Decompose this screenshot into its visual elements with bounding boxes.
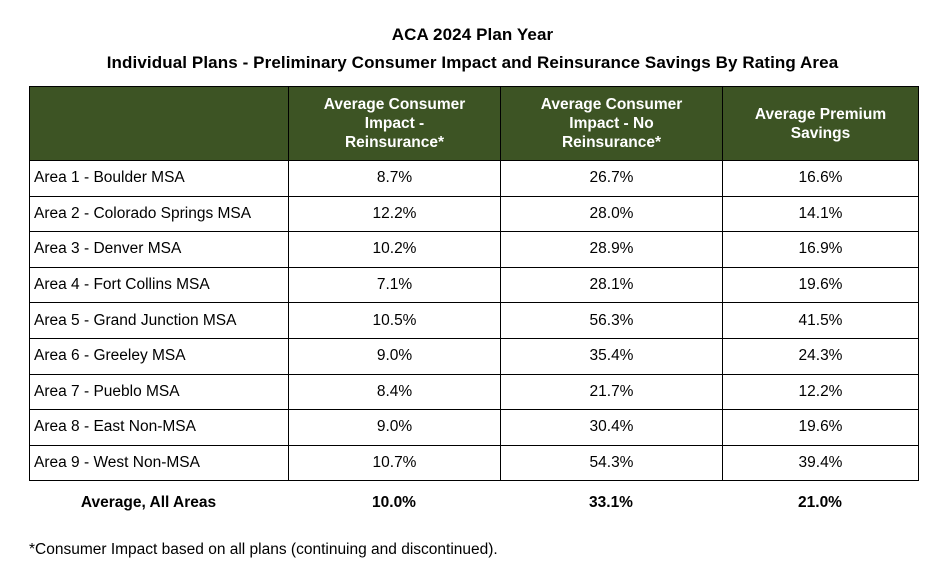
header-line: Reinsurance* [289,133,500,152]
table-row: Area 4 - Fort Collins MSA 7.1% 28.1% 19.… [30,267,919,303]
cell-area-name: Area 6 - Greeley MSA [30,338,289,374]
title-block: ACA 2024 Plan Year Individual Plans - Pr… [0,0,945,74]
cell-impact-no-reinsurance: 30.4% [501,410,723,446]
cell-impact-reinsurance: 8.4% [289,374,501,410]
header-line: Savings [723,124,918,143]
header-row: Average Consumer Impact - Reinsurance* A… [30,87,919,161]
cell-impact-no-reinsurance: 28.9% [501,232,723,268]
summary-label: Average, All Areas [29,481,288,525]
table-body: Area 1 - Boulder MSA 8.7% 26.7% 16.6% Ar… [30,161,919,481]
table-row: Area 7 - Pueblo MSA 8.4% 21.7% 12.2% [30,374,919,410]
cell-impact-reinsurance: 9.0% [289,410,501,446]
cell-premium-savings: 12.2% [723,374,919,410]
table-row: Area 6 - Greeley MSA 9.0% 35.4% 24.3% [30,338,919,374]
cell-premium-savings: 39.4% [723,445,919,481]
cell-premium-savings: 19.6% [723,410,919,446]
cell-area-name: Area 3 - Denver MSA [30,232,289,268]
table-header: Average Consumer Impact - Reinsurance* A… [30,87,919,161]
cell-impact-reinsurance: 10.2% [289,232,501,268]
header-line: Impact - [289,114,500,133]
cell-premium-savings: 14.1% [723,196,919,232]
table-row: Area 9 - West Non-MSA 10.7% 54.3% 39.4% [30,445,919,481]
column-header-area [30,87,289,161]
cell-impact-no-reinsurance: 35.4% [501,338,723,374]
cell-impact-reinsurance: 9.0% [289,338,501,374]
header-line: Average Consumer [501,95,722,114]
cell-impact-no-reinsurance: 54.3% [501,445,723,481]
summary-impact-no-reinsurance: 33.1% [500,481,722,525]
cell-impact-reinsurance: 10.7% [289,445,501,481]
footnote: *Consumer Impact based on all plans (con… [29,540,498,560]
cell-impact-no-reinsurance: 28.0% [501,196,723,232]
cell-premium-savings: 16.6% [723,161,919,197]
cell-area-name: Area 1 - Boulder MSA [30,161,289,197]
table-row: Area 8 - East Non-MSA 9.0% 30.4% 19.6% [30,410,919,446]
page-subtitle: Individual Plans - Preliminary Consumer … [0,52,945,74]
summary-row: Average, All Areas 10.0% 33.1% 21.0% [29,481,918,525]
cell-impact-reinsurance: 8.7% [289,161,501,197]
cell-area-name: Area 7 - Pueblo MSA [30,374,289,410]
header-line: Average Consumer [289,95,500,114]
cell-impact-reinsurance: 12.2% [289,196,501,232]
table-row: Area 2 - Colorado Springs MSA 12.2% 28.0… [30,196,919,232]
cell-impact-no-reinsurance: 26.7% [501,161,723,197]
column-header-premium-savings: Average Premium Savings [723,87,919,161]
cell-impact-no-reinsurance: 28.1% [501,267,723,303]
column-header-impact-reinsurance: Average Consumer Impact - Reinsurance* [289,87,501,161]
cell-area-name: Area 9 - West Non-MSA [30,445,289,481]
rating-area-table: Average Consumer Impact - Reinsurance* A… [29,86,919,481]
cell-area-name: Area 8 - East Non-MSA [30,410,289,446]
summary-impact-reinsurance: 10.0% [288,481,500,525]
cell-area-name: Area 2 - Colorado Springs MSA [30,196,289,232]
cell-area-name: Area 5 - Grand Junction MSA [30,303,289,339]
table-row: Area 3 - Denver MSA 10.2% 28.9% 16.9% [30,232,919,268]
cell-impact-reinsurance: 7.1% [289,267,501,303]
summary-premium-savings: 21.0% [722,481,918,525]
cell-premium-savings: 19.6% [723,267,919,303]
cell-impact-no-reinsurance: 56.3% [501,303,723,339]
cell-premium-savings: 41.5% [723,303,919,339]
cell-impact-no-reinsurance: 21.7% [501,374,723,410]
page-title: ACA 2024 Plan Year [0,24,945,46]
table-row: Area 5 - Grand Junction MSA 10.5% 56.3% … [30,303,919,339]
summary-row-table: Average, All Areas 10.0% 33.1% 21.0% [29,481,918,525]
cell-area-name: Area 4 - Fort Collins MSA [30,267,289,303]
table-row: Area 1 - Boulder MSA 8.7% 26.7% 16.6% [30,161,919,197]
data-table-container: Average Consumer Impact - Reinsurance* A… [29,86,918,525]
cell-premium-savings: 24.3% [723,338,919,374]
header-line: Average Premium [723,105,918,124]
table-page: ACA 2024 Plan Year Individual Plans - Pr… [0,0,945,570]
header-line: Reinsurance* [501,133,722,152]
cell-impact-reinsurance: 10.5% [289,303,501,339]
header-line: Impact - No [501,114,722,133]
column-header-impact-no-reinsurance: Average Consumer Impact - No Reinsurance… [501,87,723,161]
cell-premium-savings: 16.9% [723,232,919,268]
